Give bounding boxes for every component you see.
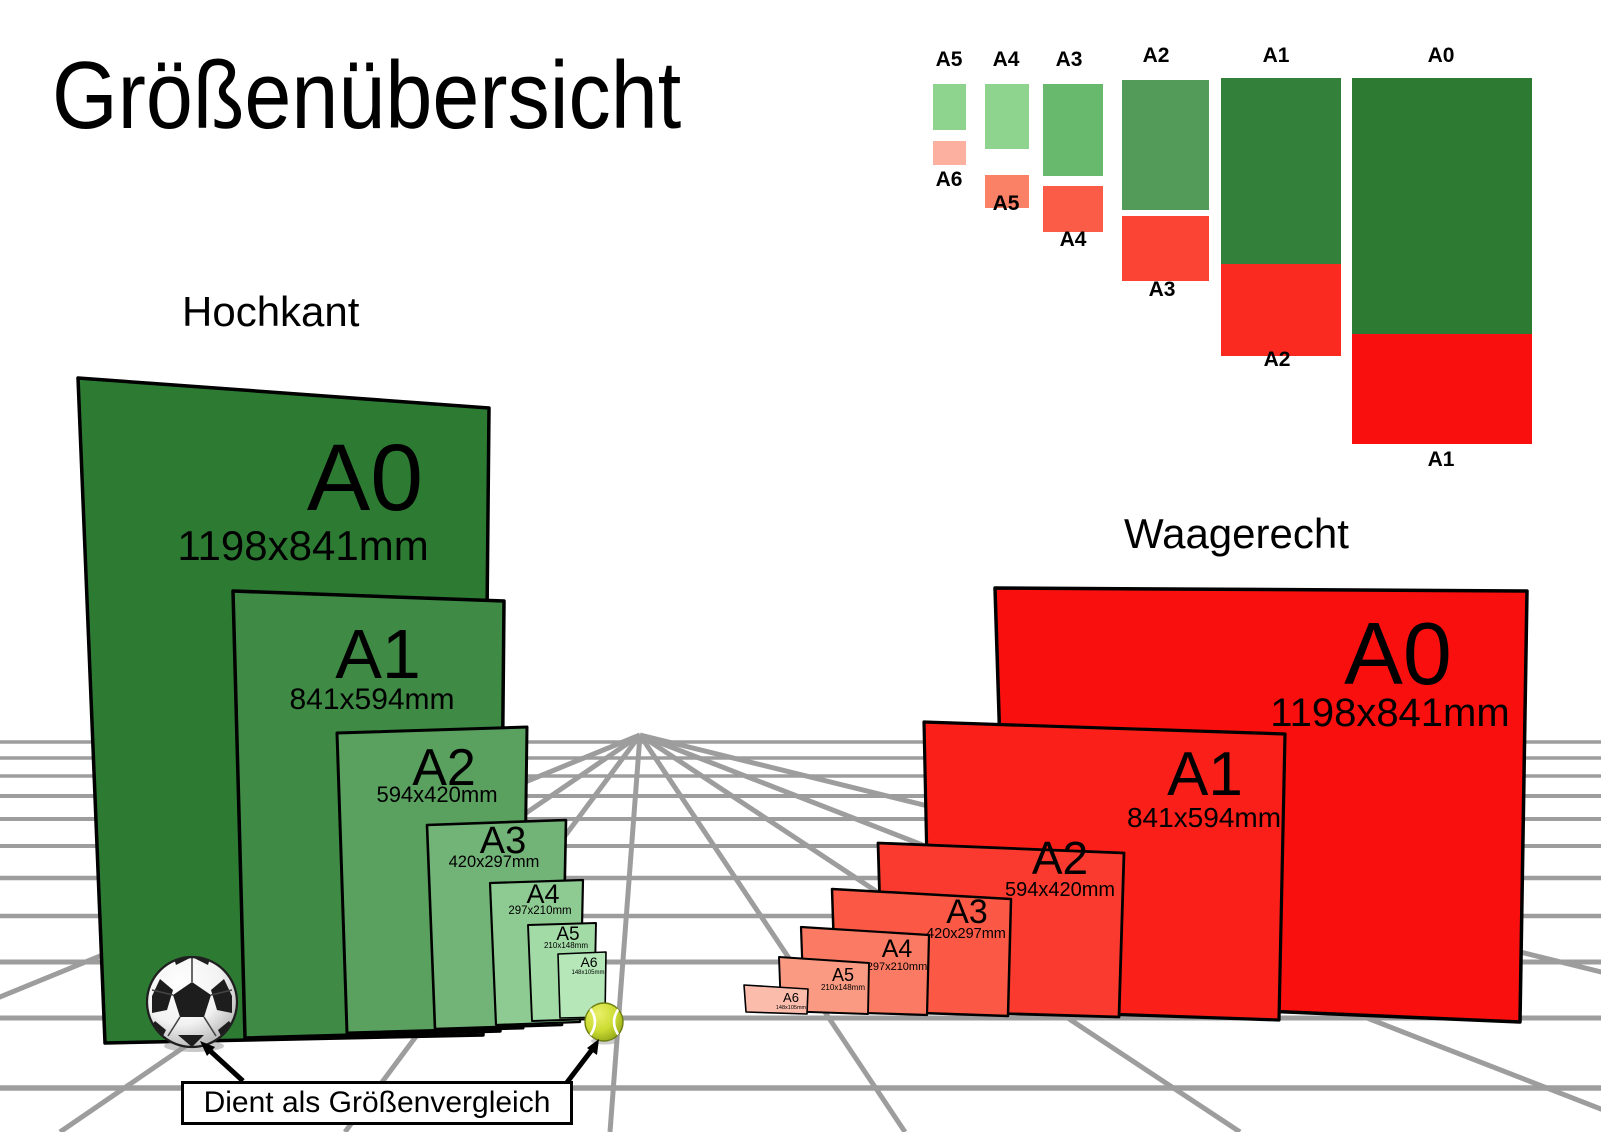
soccer-ball-icon [147, 947, 237, 1052]
arrow-to-tennis-ball [565, 1039, 599, 1085]
reference-objects-layer [0, 0, 1601, 1132]
size-comparison-caption-text: Dient als Größenvergleich [204, 1086, 551, 1120]
poster-canvas: Größenübersicht A5 A4 A3 A2 A1 A0 A6 A5 … [0, 0, 1601, 1132]
tennis-ball-icon [585, 1003, 623, 1045]
size-comparison-caption-box: Dient als Größenvergleich [181, 1081, 573, 1125]
